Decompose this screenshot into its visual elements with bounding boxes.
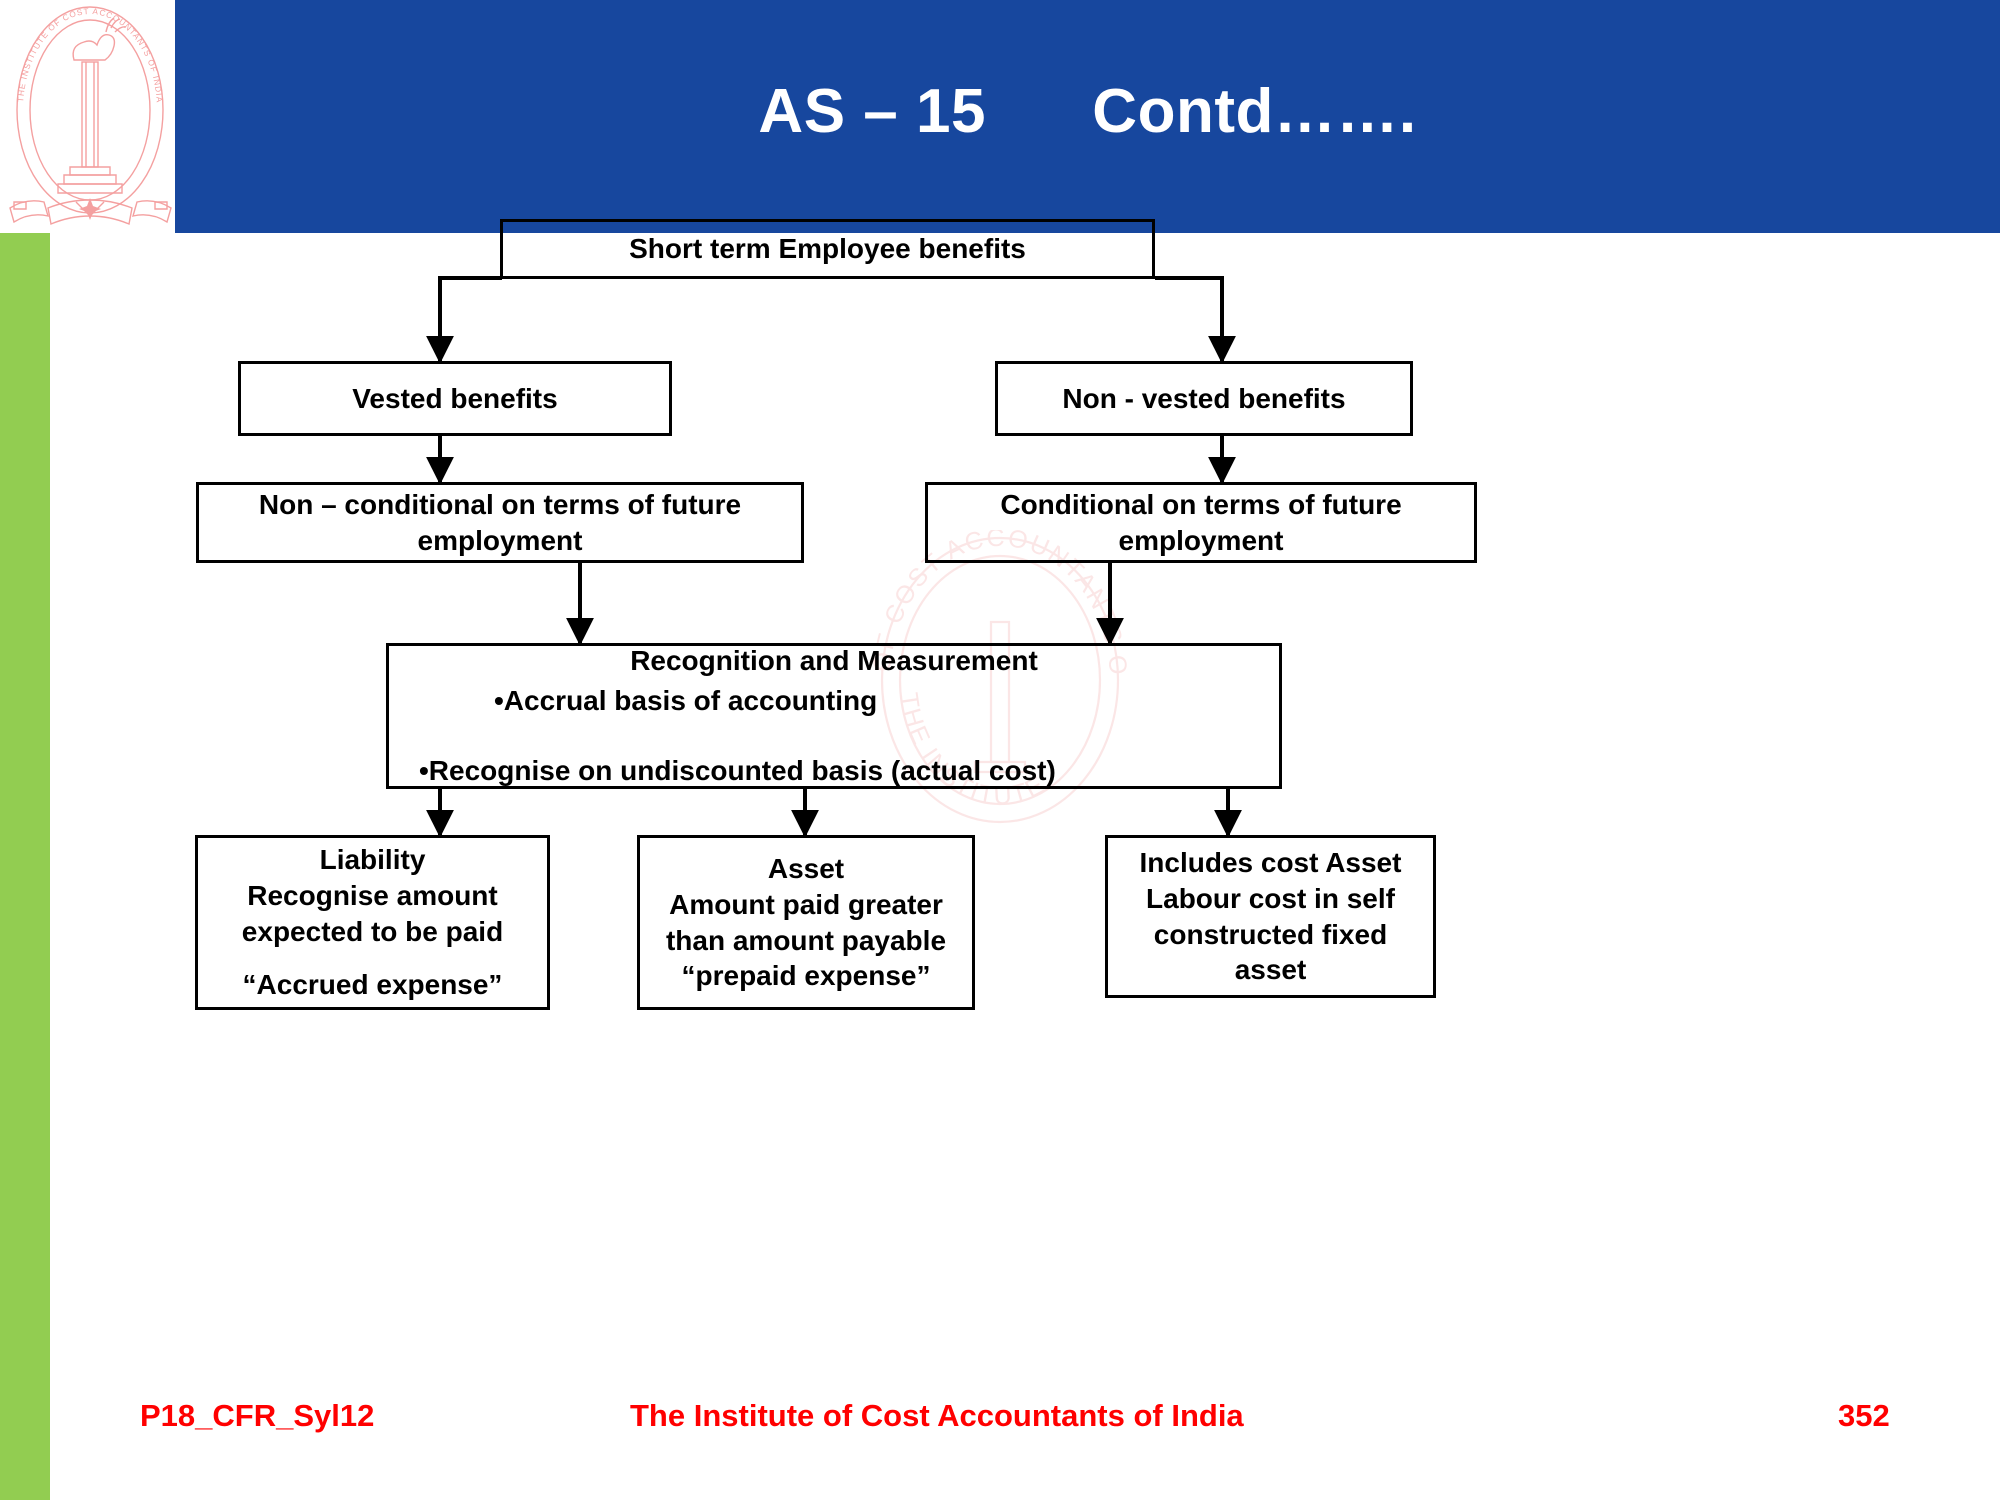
page-title: AS – 15 Contd…….	[758, 76, 1416, 147]
asset-line-4: “prepaid expense”	[682, 958, 931, 994]
node-label-line-2: employment	[1119, 523, 1284, 559]
liability-line-4: “Accrued expense”	[243, 967, 503, 1003]
node-asset[interactable]: Asset Amount paid greater than amount pa…	[637, 835, 975, 1010]
asset-line-3: than amount payable	[666, 923, 946, 959]
node-includes-cost-asset[interactable]: Includes cost Asset Labour cost in self …	[1105, 835, 1436, 998]
recognition-title: Recognition and Measurement	[399, 643, 1269, 679]
node-label-line-1: Conditional on terms of future	[1000, 487, 1401, 523]
node-short-term-employee-benefits[interactable]: Short term Employee benefits	[500, 219, 1155, 279]
node-liability[interactable]: Liability Recognise amount expected to b…	[195, 835, 550, 1010]
node-conditional-future-employment[interactable]: Conditional on terms of future employmen…	[925, 482, 1477, 563]
node-recognition-and-measurement[interactable]: Recognition and Measurement •Accrual bas…	[386, 643, 1282, 789]
node-label: Non - vested benefits	[1062, 381, 1345, 417]
flowchart: Short term Employee benefits Vested bene…	[0, 233, 2000, 1383]
slide-header-bar: AS – 15 Contd…….	[175, 0, 2000, 233]
asset-line-2: Amount paid greater	[669, 887, 943, 923]
node-non-conditional-future-employment[interactable]: Non – conditional on terms of future emp…	[196, 482, 804, 563]
footer-institute-name: The Institute of Cost Accountants of Ind…	[630, 1398, 1244, 1434]
node-label-line-1: Non – conditional on terms of future	[259, 487, 741, 523]
includes-line-3: constructed fixed asset	[1118, 917, 1423, 989]
liability-line-1: Liability	[320, 842, 426, 878]
institute-logo: THE INSTITUTE OF COST ACCOUNTANTS OF IND…	[8, 2, 173, 232]
svg-text:THE INSTITUTE OF COST ACCOUNTA: THE INSTITUTE OF COST ACCOUNTANTS OF IND…	[16, 7, 164, 104]
includes-line-1: Includes cost Asset	[1140, 845, 1402, 881]
slide-footer: P18_CFR_Syl12 The Institute of Cost Acco…	[0, 1398, 2000, 1458]
liability-line-3: expected to be paid	[242, 914, 503, 950]
node-label: Short term Employee benefits	[629, 231, 1026, 267]
footer-page-number: 352	[1838, 1398, 1890, 1434]
includes-line-2: Labour cost in self	[1146, 881, 1395, 917]
footer-subject-code: P18_CFR_Syl12	[140, 1398, 374, 1434]
recognition-bullet-2: •Recognise on undiscounted basis (actual…	[399, 753, 1269, 789]
recognition-bullet-1: •Accrual basis of accounting	[399, 683, 1269, 719]
node-label-line-2: employment	[418, 523, 583, 559]
node-label: Vested benefits	[352, 381, 557, 417]
liability-line-2: Recognise amount	[247, 878, 497, 914]
node-non-vested-benefits[interactable]: Non - vested benefits	[995, 361, 1413, 436]
asset-line-1: Asset	[768, 851, 844, 887]
node-vested-benefits[interactable]: Vested benefits	[238, 361, 672, 436]
